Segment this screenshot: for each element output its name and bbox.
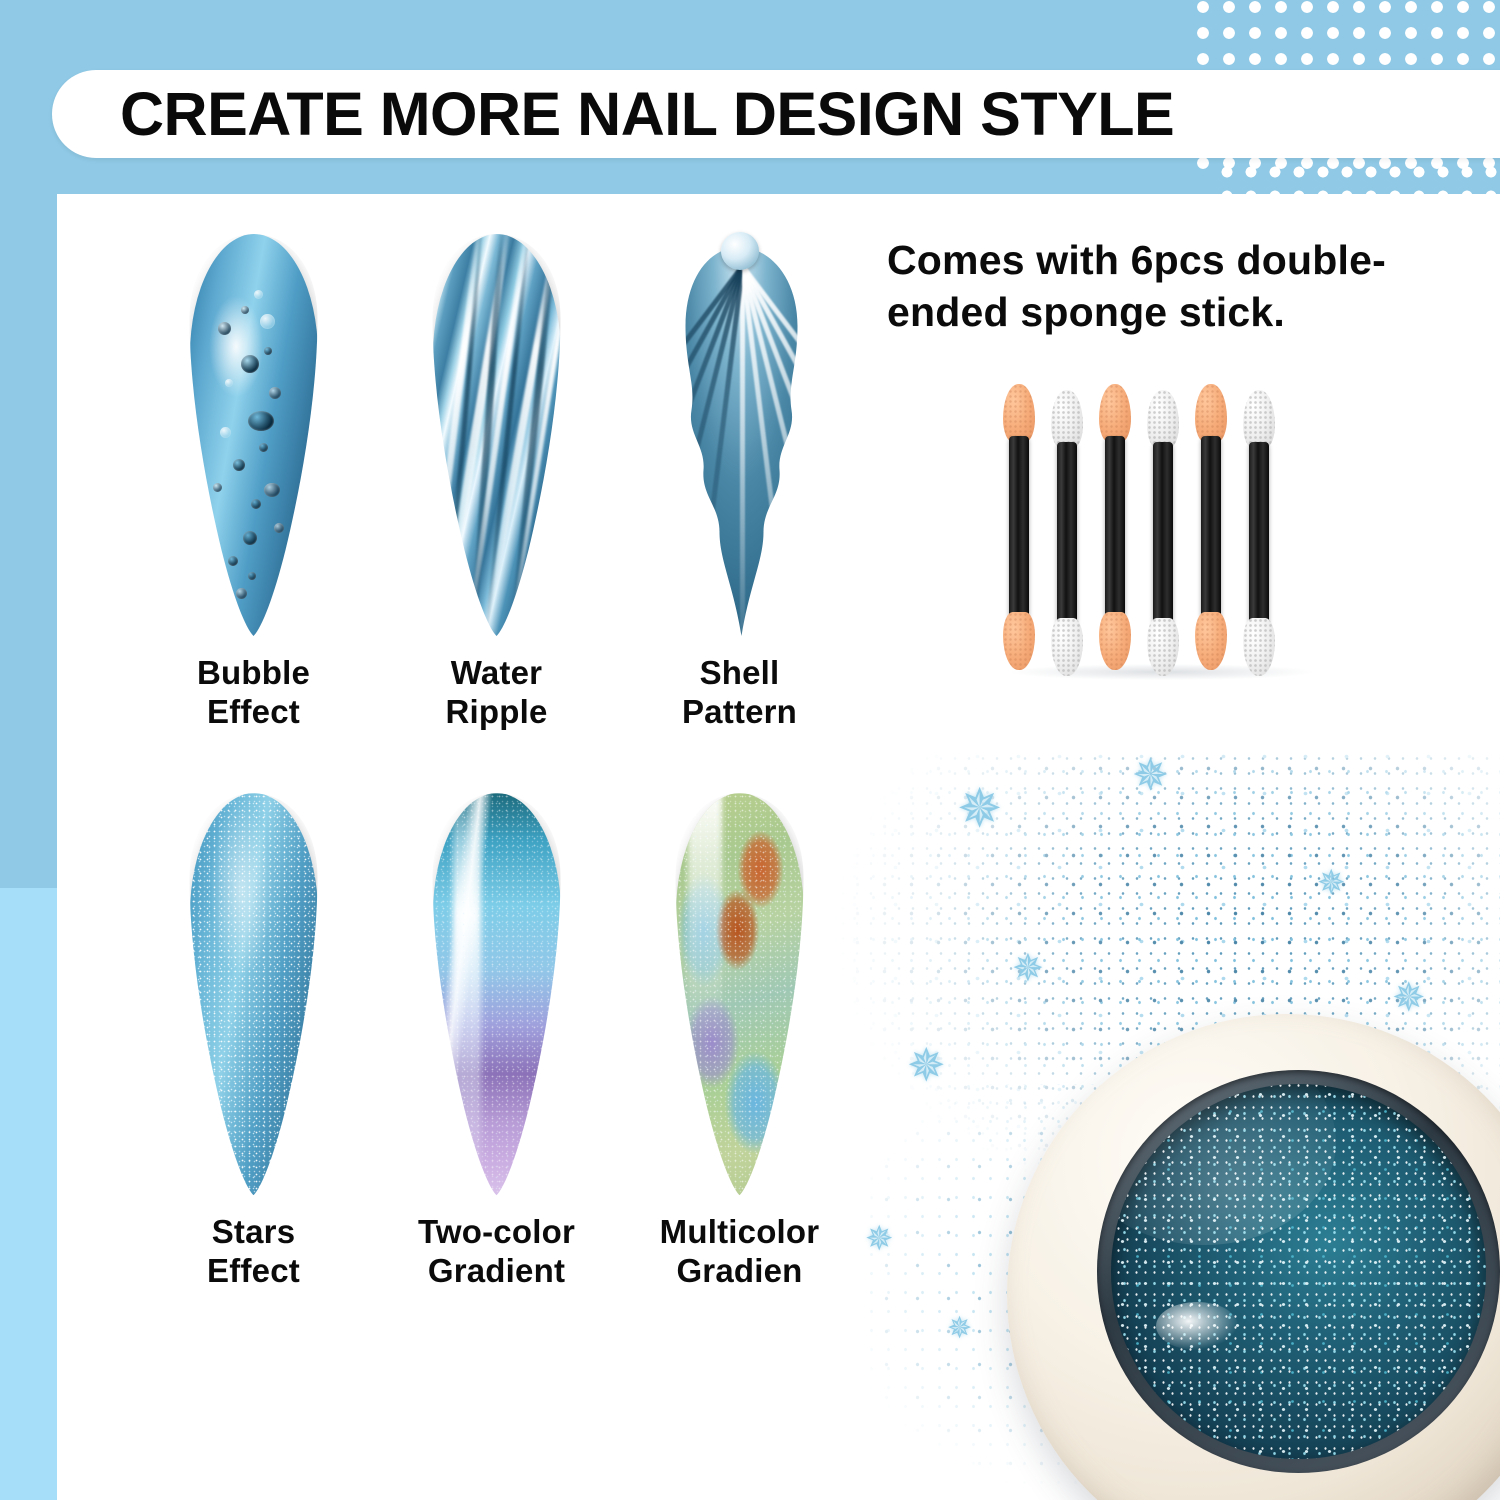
nail-design-grid: Bubble Effect	[132, 234, 862, 1290]
glitter-powder-jar[interactable]	[1007, 1014, 1500, 1500]
nail-design-two-color-gradient[interactable]: Two-color Gradient	[375, 793, 618, 1290]
sparkle-star-icon: ✵	[907, 1042, 946, 1088]
label-line-1: Bubble	[197, 654, 310, 693]
sparkle-star-icon: ✵	[1132, 754, 1169, 798]
content-card: Bubble Effect	[57, 194, 1500, 1500]
sponge-stick-section: Comes with 6pcs double- ended sponge sti…	[887, 234, 1487, 339]
label-line-2: Ripple	[445, 693, 547, 732]
sponge-stick-4[interactable]	[1141, 390, 1185, 676]
sparkle-star-icon: ✵	[1012, 950, 1044, 988]
sparkle-star-icon: ✵	[957, 782, 1002, 836]
sponge-stick-5[interactable]	[1189, 384, 1233, 670]
nail-design-shell-pattern[interactable]: Shell Pattern	[618, 234, 861, 731]
label-line-2: Effect	[197, 693, 310, 732]
sponge-stick-2[interactable]	[1045, 390, 1089, 676]
glitter-texture	[433, 793, 561, 1195]
sponge-tip-white	[1051, 390, 1083, 448]
nail-label-bubble-effect: Bubble Effect	[197, 654, 310, 731]
sponge-tip-white	[1243, 390, 1275, 448]
label-line-2: Pattern	[682, 693, 797, 732]
sponge-tip-white	[1147, 390, 1179, 448]
shell-pattern-nail-art	[676, 234, 804, 636]
sponge-handle	[1249, 442, 1269, 624]
sponge-heading-line-2: ended sponge stick.	[887, 286, 1487, 338]
bubble-effect-nail-art	[190, 234, 318, 636]
label-line-1: Water	[445, 654, 547, 693]
label-line-1: Stars	[207, 1213, 300, 1252]
sponge-heading: Comes with 6pcs double- ended sponge sti…	[887, 234, 1487, 339]
bubble-texture	[190, 234, 318, 636]
sparkle-star-icon: ✵	[947, 1314, 972, 1344]
nail-row-top: Bubble Effect	[132, 234, 862, 731]
nail-design-bubble-effect[interactable]: Bubble Effect	[132, 234, 375, 731]
nail-label-shell-pattern: Shell Pattern	[682, 654, 797, 731]
powder-highlight	[1156, 1302, 1239, 1351]
sponge-handle	[1105, 436, 1125, 618]
sparkle-star-icon: ✵	[1317, 866, 1346, 900]
sponge-tip-orange	[1099, 384, 1131, 442]
page-title: CREATE MORE NAIL DESIGN STYLE	[52, 79, 1174, 149]
label-line-2: Gradient	[418, 1252, 575, 1291]
glitter-powder-jar-section: ✵ ✵ ✵ ✵ ✵ ✵ ✵ ✵	[757, 754, 1500, 1500]
nail-design-water-ripple[interactable]: Water Ripple	[375, 234, 618, 731]
label-line-1: Shell	[682, 654, 797, 693]
sponge-handle	[1009, 436, 1029, 618]
nail-label-water-ripple: Water Ripple	[445, 654, 547, 731]
sponge-stick-6[interactable]	[1237, 390, 1281, 676]
sponge-tip-orange	[1195, 612, 1227, 670]
sponge-tip-white	[1243, 618, 1275, 676]
nail-row-bottom: Stars Effect Two-color Gradient	[132, 793, 862, 1290]
glitter-texture	[190, 793, 318, 1195]
sponge-handle	[1153, 442, 1173, 624]
sponge-tip-white	[1051, 618, 1083, 676]
sparkle-star-icon: ✵	[1392, 978, 1426, 1018]
sponge-tip-orange	[1003, 612, 1035, 670]
sponge-stick-3[interactable]	[1093, 384, 1137, 670]
shell-rib-texture	[676, 234, 804, 636]
sponge-tip-orange	[1099, 612, 1131, 670]
two-color-gradient-nail-art	[433, 793, 561, 1195]
jar-powder-content	[1111, 1084, 1486, 1459]
label-line-2: Effect	[207, 1252, 300, 1291]
sponge-tip-orange	[1195, 384, 1227, 442]
header-banner: CREATE MORE NAIL DESIGN STYLE	[52, 70, 1500, 158]
sponge-stick-1[interactable]	[997, 384, 1041, 670]
nail-label-two-color-gradient: Two-color Gradient	[418, 1213, 575, 1290]
ripple-texture	[433, 234, 561, 636]
sponge-heading-line-1: Comes with 6pcs double-	[887, 234, 1487, 286]
sparkle-star-icon: ✵	[865, 1222, 894, 1256]
water-ripple-nail-art	[433, 234, 561, 636]
sponge-stick-group	[997, 384, 1317, 674]
nail-design-stars-effect[interactable]: Stars Effect	[132, 793, 375, 1290]
sponge-handle	[1201, 436, 1221, 618]
pearl-accent-icon	[721, 232, 759, 270]
label-line-1: Two-color	[418, 1213, 575, 1252]
nail-label-stars-effect: Stars Effect	[207, 1213, 300, 1290]
sponge-tip-orange	[1003, 384, 1035, 442]
sponge-handle	[1057, 442, 1077, 624]
stars-effect-nail-art	[190, 793, 318, 1195]
sponge-tip-white	[1147, 618, 1179, 676]
